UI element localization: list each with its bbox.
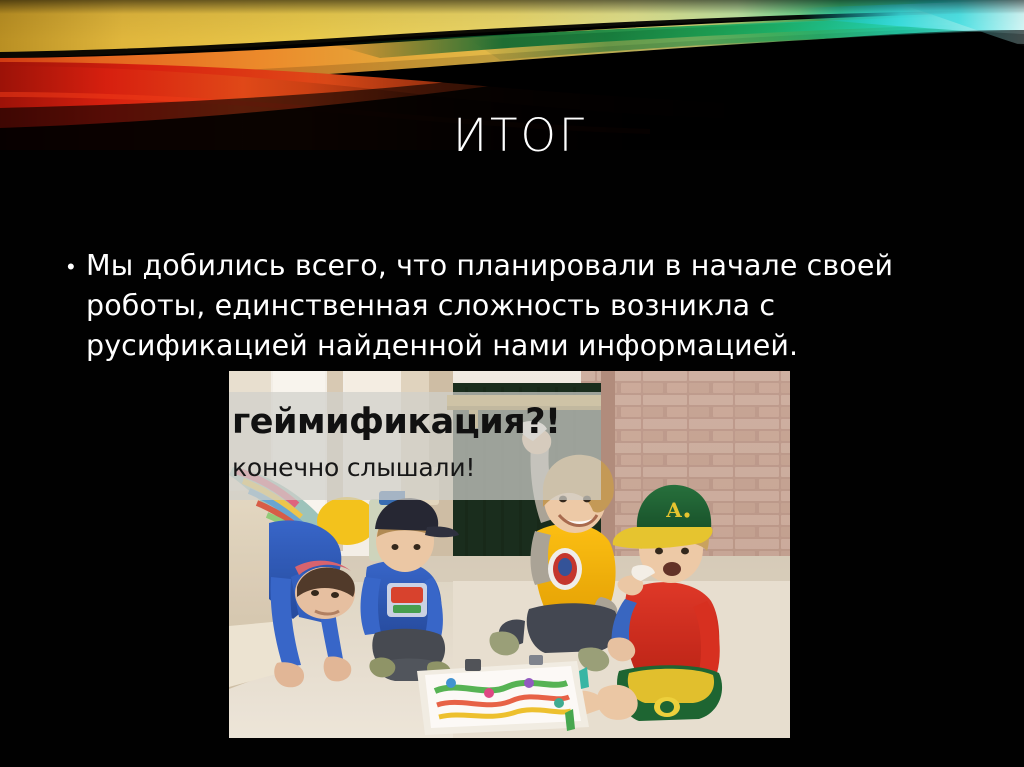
bullet-text: Мы добились всего, что планировали в нач… (86, 246, 962, 366)
photo-caption-sub: конечно слышали! (232, 454, 475, 482)
bullet-marker-icon: • (62, 246, 86, 287)
photo-caption-main: геймификация?! (232, 403, 561, 441)
slide-photo: A (229, 371, 790, 738)
slide-title: ИТОГ (120, 112, 920, 159)
slide-body: • Мы добились всего, что планировали в н… (62, 246, 962, 366)
presentation-slide: ИТОГ • Мы добились всего, что планировал… (0, 0, 1024, 767)
bullet-item: • Мы добились всего, что планировали в н… (62, 246, 962, 366)
